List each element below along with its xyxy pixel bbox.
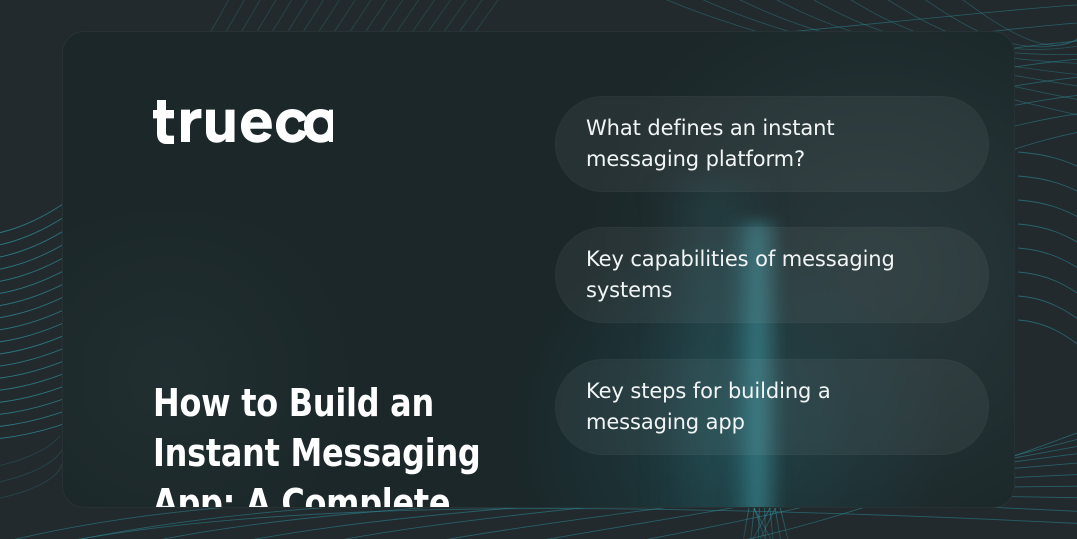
topic-card-2[interactable]: Key capabilities of messaging systems	[555, 227, 989, 323]
page-title: How to Build an Instant Messaging App: A…	[153, 378, 523, 508]
left-lower-arcs	[0, 436, 62, 502]
topic-card-1-label: What defines an instant messaging platfo…	[556, 113, 951, 175]
edge-lines-right	[1018, 152, 1077, 354]
topic-card-2-label: Key capabilities of messaging systems	[556, 244, 951, 306]
topic-card-3[interactable]: Key steps for building a messaging app	[555, 359, 989, 455]
topic-card-3-label: Key steps for building a messaging app	[556, 376, 951, 438]
trueconf-logo	[153, 92, 333, 144]
slide-canvas: How to Build an Instant Messaging App: A…	[0, 0, 1077, 539]
topic-card-1[interactable]: What defines an instant messaging platfo…	[555, 96, 989, 192]
content-panel: How to Build an Instant Messaging App: A…	[62, 31, 1015, 508]
